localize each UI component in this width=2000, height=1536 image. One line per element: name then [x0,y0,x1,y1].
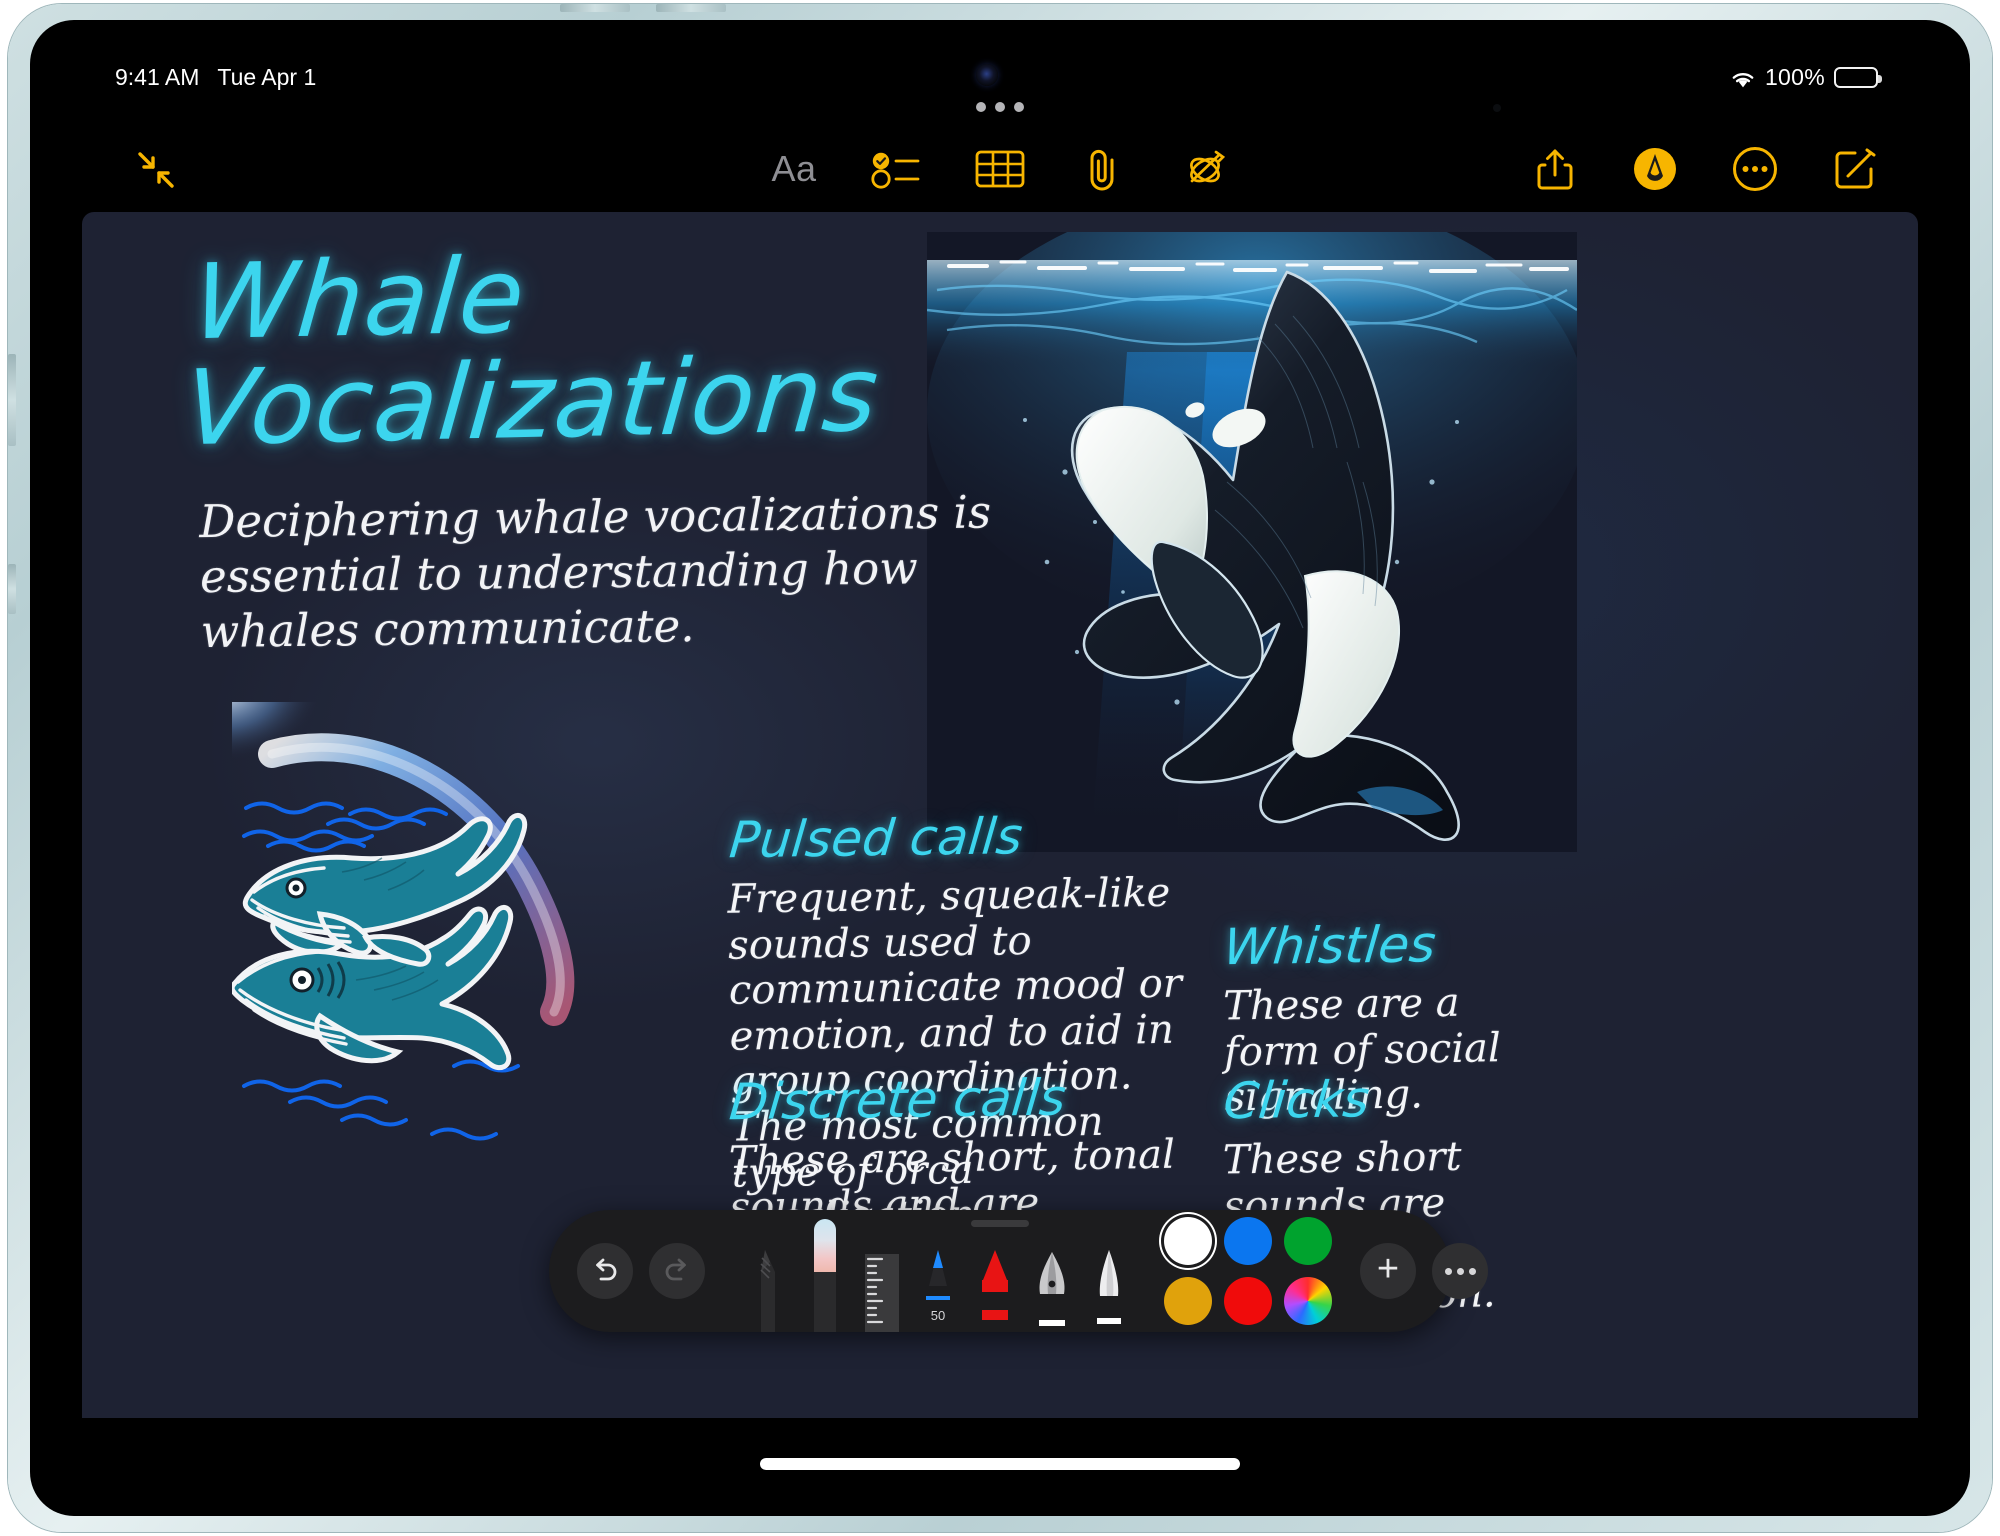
status-time: 9:41 AM [115,64,199,91]
screen: 9:41 AM Tue Apr 1 100% [60,44,1940,1492]
tool-palette: 50 [739,1210,1138,1332]
note-canvas[interactable]: Whale Vocalizations Deciphering whale vo… [82,212,1918,1418]
format-text-button[interactable]: Aa [765,138,823,200]
volume-up-button[interactable] [560,4,630,12]
section-heading-discrete: Discrete calls [727,1071,1192,1127]
table-icon [975,148,1025,190]
app-toolbar: Aa [60,132,1940,212]
checklist-button[interactable] [868,138,926,200]
redo-button[interactable] [649,1243,705,1299]
pencil-attach-strip [8,564,16,614]
format-text-label: Aa [771,148,816,190]
section-heading-whistles: Whistles [1222,918,1547,972]
section-heading-pulsed: Pulsed calls [727,809,1202,866]
markup-scribble-icon [1180,145,1232,193]
swatch-red[interactable] [1224,1277,1272,1325]
markup-button[interactable] [1177,138,1235,200]
section-heading-clicks: Clicks [1222,1072,1547,1126]
share-icon [1535,145,1575,193]
swatch-color-picker[interactable] [1284,1277,1332,1325]
paperclip-icon [1083,146,1123,192]
pen-tool[interactable]: 50 [910,1210,967,1332]
crayon-tool[interactable] [967,1210,1024,1332]
undo-arrow-icon [590,1257,620,1285]
undo-button[interactable] [577,1243,633,1299]
attachment-button[interactable] [1074,138,1132,200]
swatch-green[interactable] [1284,1217,1332,1265]
markup-active-button[interactable] [1626,138,1684,200]
plus-icon: + [1377,1250,1399,1288]
markup-actions: + [1360,1243,1488,1299]
volume-down-button[interactable] [656,4,726,12]
swatch-white[interactable] [1164,1217,1212,1265]
swatch-blue[interactable] [1224,1217,1272,1265]
toolbar-right-group [1526,138,1884,200]
compose-icon [1831,145,1879,193]
status-right: 100% [1730,64,1878,91]
markup-toolbar: 50 [549,1210,1451,1332]
redo-arrow-icon [662,1257,692,1285]
toolbar-center-group: Aa [765,138,1235,200]
eraser-tool[interactable] [739,1210,796,1332]
note-intro: Deciphering whale vocalizations is essen… [199,485,1041,660]
swatch-yellow[interactable] [1164,1277,1212,1325]
power-button[interactable] [8,354,16,446]
fountain-pen-tool[interactable] [1024,1210,1081,1332]
color-swatches [1164,1217,1332,1325]
gradient-marker-tool[interactable] [796,1210,853,1332]
multitasking-handle[interactable] [976,102,1024,112]
status-left: 9:41 AM Tue Apr 1 [115,64,316,91]
ipad-device: 9:41 AM Tue Apr 1 100% [0,0,2000,1536]
table-button[interactable] [971,138,1029,200]
pen-size-label: 50 [931,1308,945,1323]
compose-button[interactable] [1826,138,1884,200]
add-tool-button[interactable]: + [1360,1243,1416,1299]
status-date: Tue Apr 1 [217,64,316,91]
markup-more-button[interactable] [1432,1243,1488,1299]
whale-sketch-illustration [232,702,662,1162]
wifi-icon [1730,68,1756,87]
note-title: Whale Vocalizations [180,235,891,462]
checklist-icon [870,147,924,191]
brush-tool[interactable] [1081,1210,1138,1332]
home-indicator[interactable] [760,1458,1240,1470]
battery-percent-label: 100% [1765,64,1825,91]
battery-icon [1834,67,1878,88]
pen-circle-icon [1631,145,1679,193]
ellipsis-circle-icon [1731,145,1779,193]
device-bezel: 9:41 AM Tue Apr 1 100% [8,4,1992,1532]
screen-bezel: 9:41 AM Tue Apr 1 100% [30,20,1970,1516]
status-bar: 9:41 AM Tue Apr 1 100% [60,44,1940,106]
share-button[interactable] [1526,138,1584,200]
ruler-tool[interactable] [853,1210,910,1332]
undo-redo-group [577,1243,705,1299]
ellipsis-icon [1445,1268,1476,1275]
collapse-arrows-icon[interactable] [130,146,182,194]
more-button[interactable] [1726,138,1784,200]
